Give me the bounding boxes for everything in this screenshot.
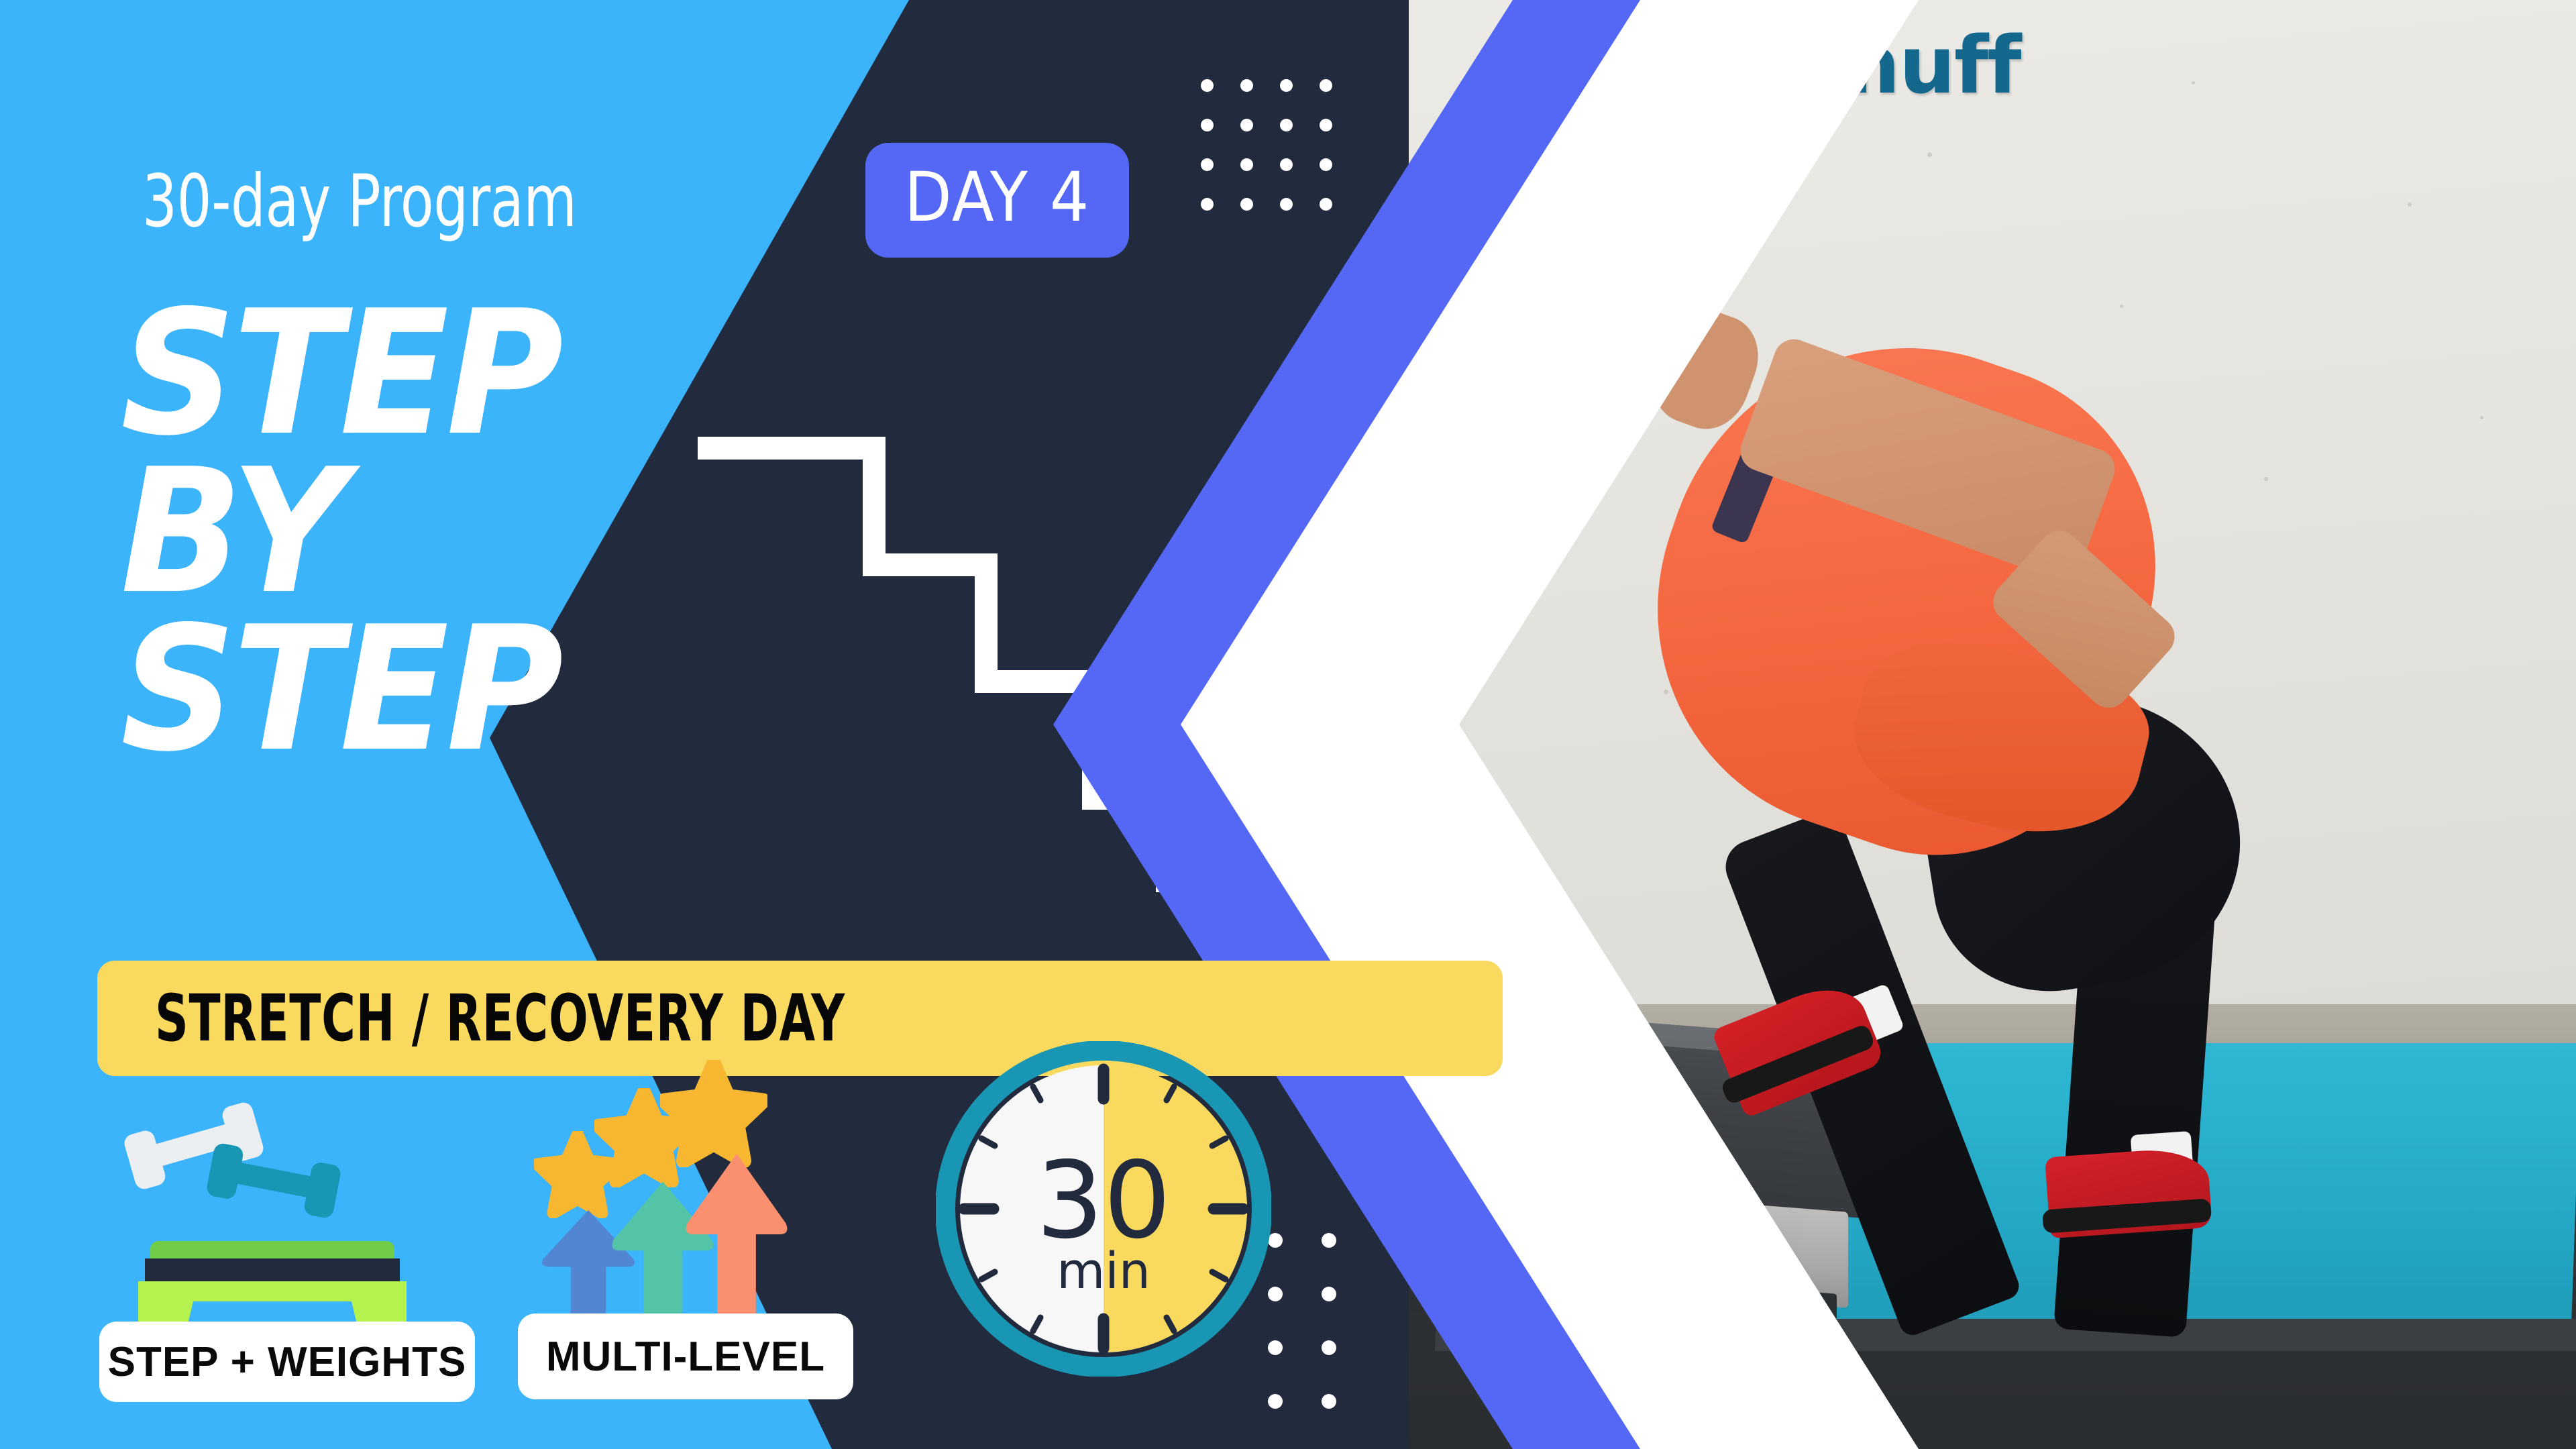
day-badge[interactable]: DAY 4 <box>865 143 1129 258</box>
title-line-1: STEP <box>121 295 561 453</box>
level-icon-group <box>527 1067 863 1348</box>
equipment-badge[interactable]: STEP + WEIGHTS <box>99 1322 475 1402</box>
workout-type-banner: STRETCH / RECOVERY DAY <box>97 961 1503 1076</box>
dot-grid-bottom-icon <box>1268 1233 1336 1409</box>
advanced-arrow-icon <box>683 1147 790 1322</box>
step-platform-icon <box>138 1241 407 1335</box>
duration-timer-icon: 30 min <box>936 1041 1271 1377</box>
level-badge-label: MULTI-LEVEL <box>546 1333 825 1381</box>
program-kicker: 30-day Program <box>142 160 576 244</box>
dot-grid-top-icon <box>1201 79 1332 211</box>
level-badge[interactable]: MULTI-LEVEL <box>518 1313 853 1399</box>
workout-type-label: STRETCH / RECOVERY DAY <box>155 981 845 1056</box>
thumbnail-canvas: fitragamuff STEP <box>0 0 2576 1449</box>
page-title: STEP BY STEP <box>121 295 594 769</box>
equipment-badge-label: STEP + WEIGHTS <box>108 1338 467 1386</box>
timer-unit: min <box>1057 1242 1150 1300</box>
dumbbell-teal-icon <box>202 1138 345 1224</box>
title-line-3: STEP <box>121 611 561 769</box>
title-line-2: BY <box>121 453 561 612</box>
